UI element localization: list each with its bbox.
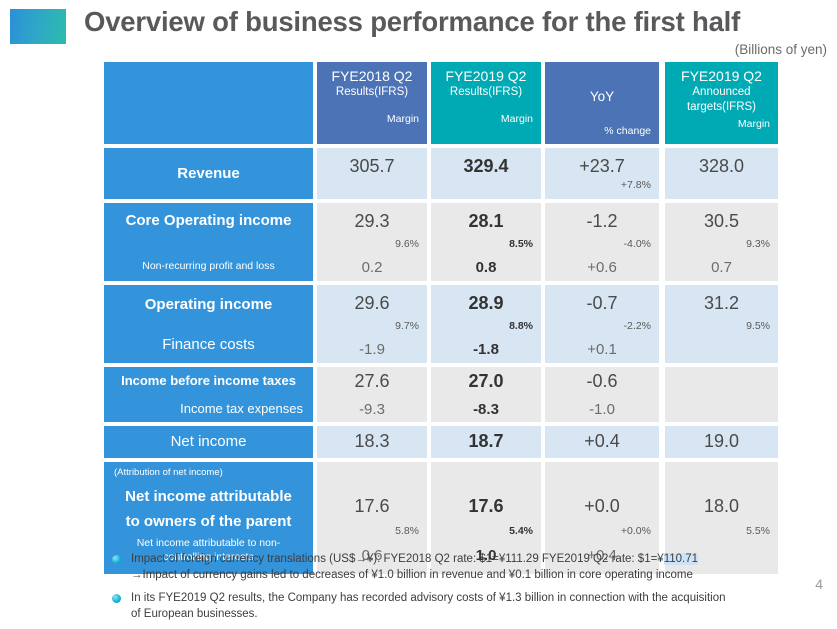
row-sublabel-non-recurring: Non-recurring profit and loss — [114, 259, 303, 273]
header-target-line3: targets(IFRS) — [673, 100, 770, 115]
row-sublabel-income-tax-expenses: Income tax expenses — [114, 400, 303, 418]
header-cell-announced-targets: FYE2019 Q2 Announced targets(IFRS) Margi… — [665, 62, 778, 144]
row-sublabel-finance-costs: Finance costs — [114, 335, 303, 355]
attribution-label-line2: to owners of the parent — [114, 512, 303, 532]
value-operating-fye2019-pct: 8.8% — [431, 319, 541, 333]
attribution-sublabel-line1: Net income attributable to non- — [114, 536, 303, 550]
cell-revenue-fye2018: 305.7 — [317, 148, 427, 199]
footnote-text: Impact of foreign currency translations … — [131, 551, 698, 583]
value-attribution-fye2019-pct: 5.4% — [431, 524, 541, 538]
table-row-net-income: Net income 18.3 18.7 +0.4 19.0 — [104, 426, 780, 458]
value-attribution-target-pct: 5.5% — [665, 524, 778, 538]
value-operating-fye2018-sub: -1.9 — [317, 340, 427, 360]
footnote-2-line1: In its FYE2019 Q2 results, the Company h… — [131, 592, 726, 604]
value-net-yoy: +0.4 — [545, 426, 659, 453]
value-ibt-yoy: -0.6 — [545, 367, 659, 393]
attribution-heading: (Attribution of net income) — [114, 466, 303, 479]
header-fye2018-line1: FYE2018 Q2 — [325, 68, 419, 85]
footnote-item: Impact of foreign currency translations … — [112, 551, 772, 583]
header-fye2018-line2: Results(IFRS) — [325, 85, 419, 100]
footnote-1-line2: →Impact of currency gains led to decreas… — [131, 569, 693, 581]
header-target-margin: Margin — [673, 117, 770, 131]
header-cell-label — [104, 62, 313, 144]
value-operating-yoy-sub: +0.1 — [545, 340, 659, 360]
value-ibt-fye2018: 27.6 — [317, 367, 427, 393]
cell-revenue-yoy: +23.7 +7.8% — [545, 148, 659, 199]
value-attribution-fye2018: 17.6 — [317, 462, 427, 518]
company-logo-mark — [10, 9, 66, 44]
performance-table: FYE2018 Q2 Results(IFRS) Margin FYE2019 … — [104, 62, 780, 578]
cell-core-target: 30.5 9.3% 0.7 — [665, 203, 778, 281]
cell-ibt-fye2018: 27.6 -9.3 — [317, 367, 427, 422]
bullet-icon — [112, 555, 121, 564]
footnote-2-line2: of European businesses. — [131, 608, 258, 620]
table-row-core-operating-income: Core Operating income Non-recurring prof… — [104, 203, 780, 281]
value-core-fye2019: 28.1 — [431, 203, 541, 233]
value-attribution-fye2019: 17.6 — [431, 462, 541, 518]
page-number: 4 — [815, 576, 823, 592]
value-operating-fye2018-pct: 9.7% — [317, 319, 427, 333]
cell-net-yoy: +0.4 — [545, 426, 659, 458]
value-core-fye2018-pct: 9.6% — [317, 237, 427, 251]
value-operating-fye2019-sub: -1.8 — [431, 340, 541, 360]
row-label-revenue: Revenue — [104, 148, 313, 199]
footnotes: Impact of foreign currency translations … — [112, 551, 772, 629]
value-core-target: 30.5 — [665, 203, 778, 233]
attribution-label-line1: Net income attributable — [114, 487, 303, 507]
value-operating-target: 31.2 — [665, 285, 778, 315]
header-cell-fye2019-results: FYE2019 Q2 Results(IFRS) Margin — [431, 62, 541, 144]
value-core-yoy: -1.2 — [545, 203, 659, 233]
table-row-operating-income: Operating income Finance costs 29.6 9.7%… — [104, 285, 780, 363]
value-ibt-fye2019-sub: -8.3 — [431, 400, 541, 420]
footnote-item: In its FYE2019 Q2 results, the Company h… — [112, 590, 772, 622]
cell-operating-fye2018: 29.6 9.7% -1.9 — [317, 285, 427, 363]
cell-core-yoy: -1.2 -4.0% +0.6 — [545, 203, 659, 281]
footnote-text: In its FYE2019 Q2 results, the Company h… — [131, 590, 726, 622]
row-label-revenue-text: Revenue — [114, 164, 303, 184]
value-attribution-yoy: +0.0 — [545, 462, 659, 518]
cell-core-fye2018: 29.3 9.6% 0.2 — [317, 203, 427, 281]
value-core-yoy-sub: +0.6 — [545, 258, 659, 278]
value-revenue-fye2018: 305.7 — [317, 148, 427, 178]
cell-ibt-target — [665, 367, 778, 422]
footnote-1-line1-before: Impact of foreign currency translations … — [131, 553, 664, 565]
value-revenue-yoy: +23.7 — [545, 148, 659, 178]
value-core-target-sub: 0.7 — [665, 258, 778, 278]
slide-header: Overview of business performance for the… — [0, 0, 837, 52]
cell-ibt-fye2019: 27.0 -8.3 — [431, 367, 541, 422]
value-revenue-yoy-pct: +7.8% — [545, 178, 659, 192]
cell-net-target: 19.0 — [665, 426, 778, 458]
value-core-fye2019-pct: 8.5% — [431, 237, 541, 251]
value-core-target-pct: 9.3% — [665, 237, 778, 251]
cell-net-fye2018: 18.3 — [317, 426, 427, 458]
value-revenue-fye2019: 329.4 — [431, 148, 541, 178]
table-row-income-before-income-taxes: Income before income taxes Income tax ex… — [104, 367, 780, 422]
row-label-income-before-taxes-text: Income before income taxes — [114, 371, 303, 391]
row-label-net-income: Net income — [104, 426, 313, 458]
footnote-1-highlight: 110.71 — [664, 553, 698, 565]
value-net-fye2018: 18.3 — [317, 426, 427, 453]
value-core-yoy-pct: -4.0% — [545, 237, 659, 251]
cell-ibt-yoy: -0.6 -1.0 — [545, 367, 659, 422]
header-yoy-line2: % change — [604, 124, 651, 138]
table-header-row: FYE2018 Q2 Results(IFRS) Margin FYE2019 … — [104, 62, 780, 144]
header-cell-yoy: YoY % change — [545, 62, 659, 144]
header-fye2019-line1: FYE2019 Q2 — [439, 68, 533, 85]
cell-revenue-fye2019: 329.4 — [431, 148, 541, 199]
header-target-line1: FYE2019 Q2 — [673, 68, 770, 85]
row-label-operating-income: Operating income Finance costs — [104, 285, 313, 363]
value-net-fye2019: 18.7 — [431, 426, 541, 453]
table-row-revenue: Revenue 305.7 329.4 +23.7 +7.8% 328.0 — [104, 148, 780, 199]
value-attribution-fye2018-pct: 5.8% — [317, 524, 427, 538]
header-cell-fye2018-results: FYE2018 Q2 Results(IFRS) Margin — [317, 62, 427, 144]
row-label-net-income-text: Net income — [114, 432, 303, 452]
header-fye2018-margin: Margin — [325, 112, 419, 126]
cell-revenue-target: 328.0 — [665, 148, 778, 199]
value-operating-target-pct: 9.5% — [665, 319, 778, 333]
value-core-fye2019-sub: 0.8 — [431, 258, 541, 278]
value-attribution-target: 18.0 — [665, 462, 778, 518]
value-revenue-target: 328.0 — [665, 148, 778, 178]
header-fye2019-line2: Results(IFRS) — [439, 85, 533, 100]
row-label-core-operating-income: Core Operating income Non-recurring prof… — [104, 203, 313, 281]
value-operating-yoy-pct: -2.2% — [545, 319, 659, 333]
value-ibt-fye2018-sub: -9.3 — [317, 400, 427, 420]
header-target-line2: Announced — [673, 85, 770, 100]
cell-operating-fye2019: 28.9 8.8% -1.8 — [431, 285, 541, 363]
value-ibt-fye2019: 27.0 — [431, 367, 541, 393]
header-yoy-line1: YoY — [545, 89, 659, 105]
value-core-fye2018: 29.3 — [317, 203, 427, 233]
value-attribution-yoy-pct: +0.0% — [545, 524, 659, 538]
value-operating-fye2019: 28.9 — [431, 285, 541, 315]
value-ibt-yoy-sub: -1.0 — [545, 400, 659, 420]
page-title: Overview of business performance for the… — [84, 6, 834, 38]
cell-operating-target: 31.2 9.5% — [665, 285, 778, 363]
value-core-fye2018-sub: 0.2 — [317, 258, 427, 278]
cell-net-fye2019: 18.7 — [431, 426, 541, 458]
value-operating-fye2018: 29.6 — [317, 285, 427, 315]
row-label-income-before-income-taxes: Income before income taxes Income tax ex… — [104, 367, 313, 422]
row-label-operating-income-text: Operating income — [114, 295, 303, 315]
value-net-target: 19.0 — [665, 426, 778, 453]
value-operating-yoy: -0.7 — [545, 285, 659, 315]
cell-core-fye2019: 28.1 8.5% 0.8 — [431, 203, 541, 281]
bullet-icon — [112, 594, 121, 603]
value-ibt-target — [665, 367, 778, 373]
cell-operating-yoy: -0.7 -2.2% +0.1 — [545, 285, 659, 363]
unit-note: (Billions of yen) — [735, 42, 827, 57]
row-label-core-operating-income-text: Core Operating income — [114, 211, 303, 231]
header-fye2019-margin: Margin — [439, 112, 533, 126]
